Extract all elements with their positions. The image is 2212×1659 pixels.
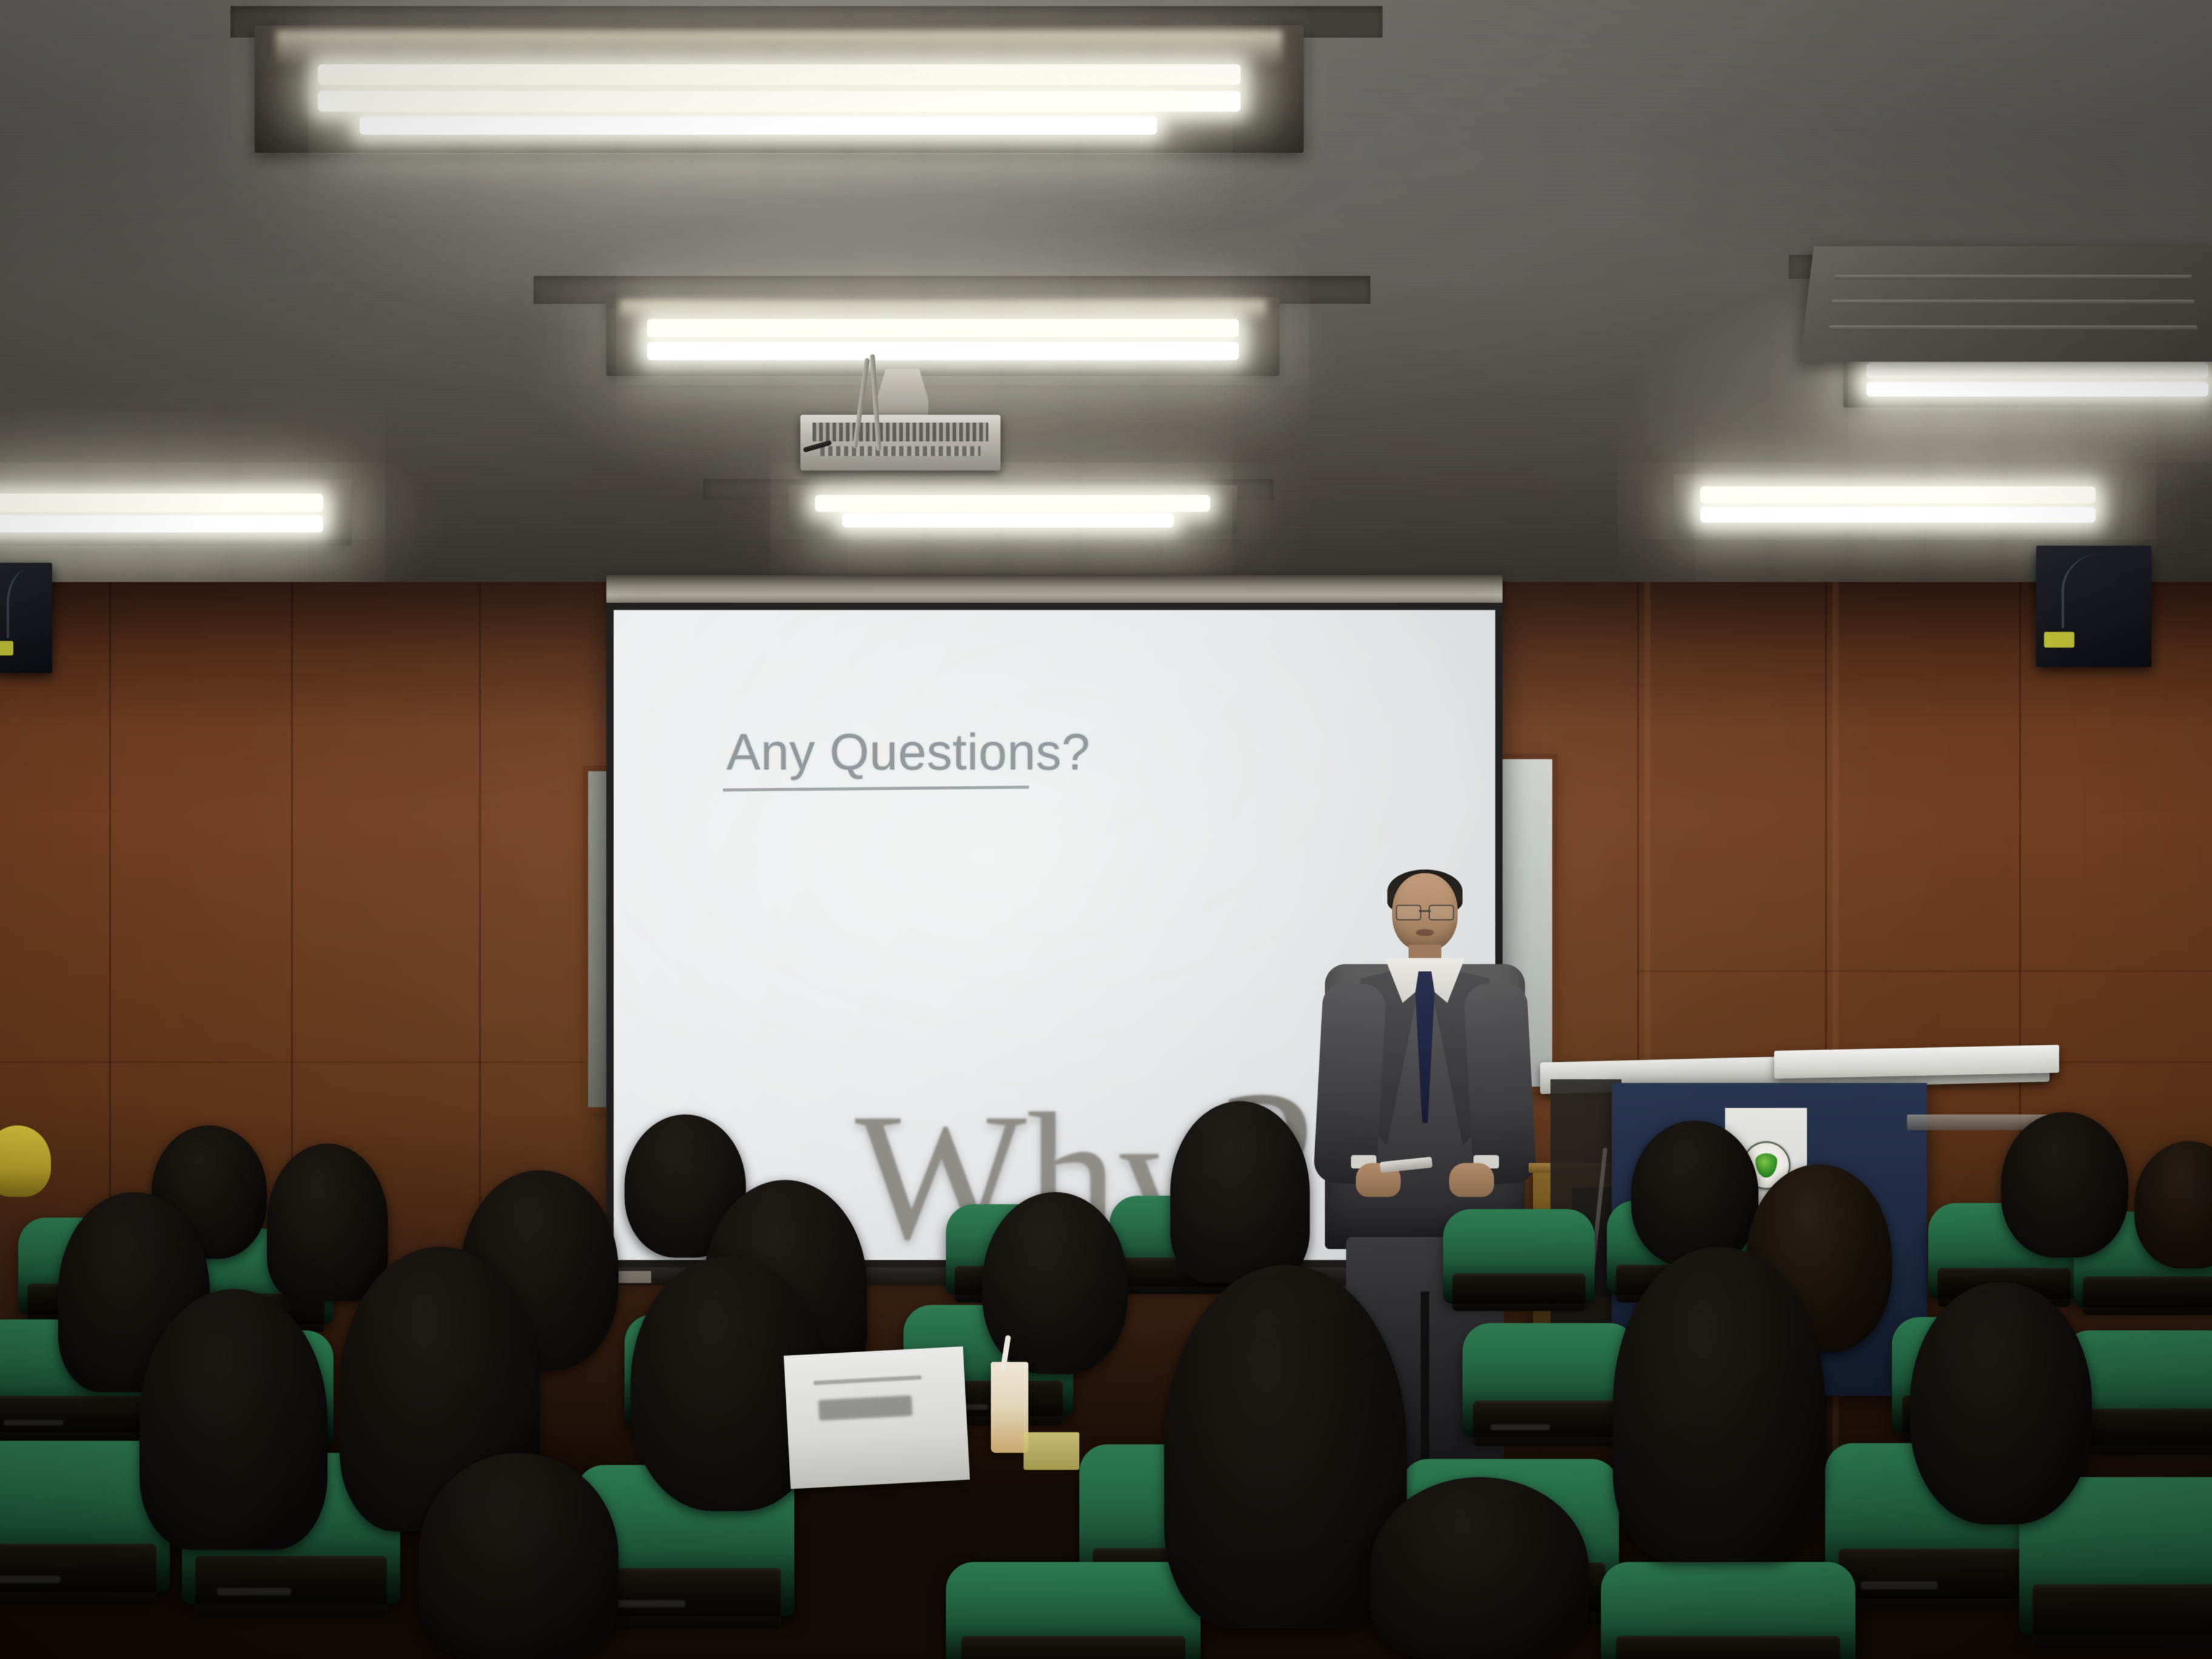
notebook — [1024, 1432, 1079, 1470]
fluorescent-tube — [647, 342, 1239, 360]
projector-vent-grille — [813, 423, 988, 441]
presenter-mouth — [1416, 929, 1434, 936]
seat — [1601, 1562, 1855, 1659]
seat — [946, 1562, 1201, 1659]
presenter-head — [1392, 873, 1458, 951]
audience-head — [1631, 1121, 1758, 1266]
light-fixture-mid-left — [606, 297, 1279, 376]
speaker-grille-curve — [7, 569, 43, 638]
fluorescent-tube — [1700, 486, 2095, 503]
wall-panel-seam — [1637, 970, 2212, 972]
fluorescent-tube — [815, 495, 1210, 512]
fluorescent-tube — [1700, 507, 2095, 523]
audience-head — [139, 1289, 327, 1550]
lecture-hall-photo: Any Questions? Why? — [0, 0, 2212, 1659]
seat-shadow — [1463, 1387, 1637, 1437]
audience-head — [1370, 1477, 1589, 1659]
glasses-lens-right — [1429, 905, 1454, 920]
ceiling-projector — [800, 369, 1000, 490]
projector-mount-bracket — [876, 369, 928, 420]
seat-shadow — [2074, 1265, 2212, 1307]
fluorescent-tube — [318, 91, 1241, 112]
audience-head — [2001, 1112, 2128, 1258]
seat-shadow — [0, 1526, 170, 1592]
seat-shadow — [1443, 1262, 1595, 1304]
wall-speaker-left — [0, 563, 52, 673]
light-fixture-front-left — [255, 25, 1304, 153]
vent-slat — [1831, 300, 2194, 304]
wall-speaker-right — [2036, 546, 2151, 667]
audience-head — [1910, 1282, 2092, 1524]
speaker-label — [0, 641, 13, 655]
audience-area — [0, 1138, 2212, 1659]
audience-head — [1170, 1101, 1310, 1283]
light-housing — [0, 479, 352, 546]
slide-title: Any Questions? — [726, 723, 1090, 782]
light-reflector — [276, 30, 1283, 64]
seat-shadow — [2019, 1566, 2212, 1635]
seat-shadow — [1601, 1623, 1855, 1659]
fluorescent-tube — [1866, 363, 2208, 378]
light-fixture-mid-center — [788, 485, 1237, 532]
vent-slat — [1834, 275, 2192, 279]
paper-text-block — [819, 1395, 913, 1421]
seat — [1463, 1323, 1637, 1437]
vent-slat — [1829, 326, 2197, 330]
audience-head — [418, 1453, 618, 1659]
light-fixture-left-edge — [0, 479, 352, 546]
fluorescent-tube — [360, 116, 1157, 135]
seat-shadow — [946, 1623, 1201, 1659]
glasses-icon — [1396, 905, 1454, 918]
audience-head — [2134, 1141, 2212, 1269]
speaker-label — [2044, 632, 2074, 648]
fluorescent-tube — [0, 494, 323, 512]
projector-vent-grille — [820, 446, 980, 457]
seat — [1443, 1209, 1595, 1304]
audience-head — [267, 1144, 388, 1301]
light-reflector — [620, 300, 1266, 321]
paper-text-line — [814, 1375, 922, 1385]
audience-head — [1613, 1247, 1825, 1562]
slide-title-underline — [723, 786, 1029, 792]
fluorescent-tube — [647, 319, 1239, 337]
fluorescent-tube — [1866, 382, 2208, 397]
drink-cup — [991, 1362, 1028, 1453]
seat-shadow — [1825, 1530, 2049, 1598]
glasses-lens-left — [1396, 905, 1421, 920]
light-housing — [1674, 474, 2122, 535]
air-conditioning-diffuser — [1800, 246, 2212, 361]
fluorescent-tube — [0, 515, 323, 532]
fluorescent-tube — [318, 64, 1241, 85]
fluorescent-tube — [842, 513, 1175, 528]
light-fixture-right — [1674, 474, 2122, 535]
handout-paper — [783, 1346, 970, 1489]
speaker-grille-curve — [2062, 553, 2131, 628]
